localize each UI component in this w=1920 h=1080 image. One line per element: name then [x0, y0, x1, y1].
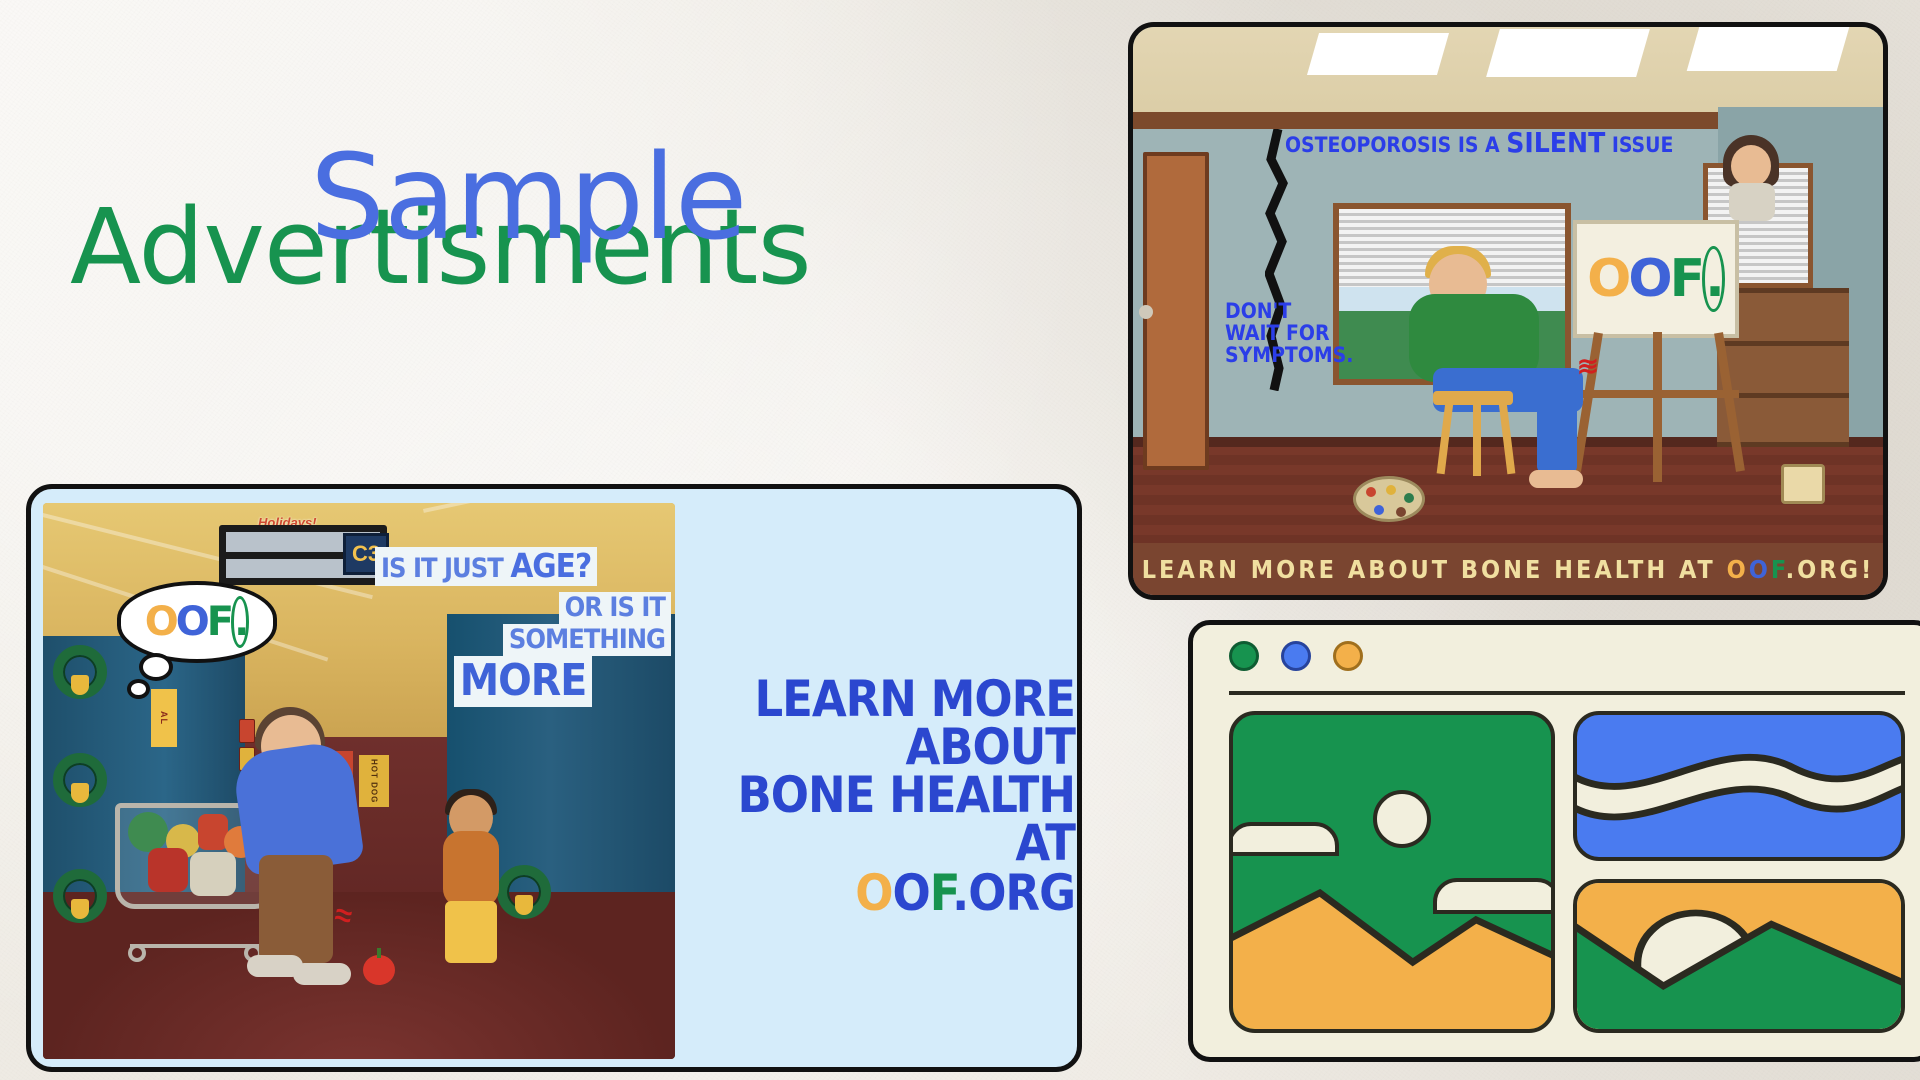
wave-shape — [1577, 715, 1901, 857]
paint-palette — [1353, 476, 1425, 522]
easel-leg — [1714, 332, 1745, 472]
browser-divider — [1229, 691, 1905, 695]
wreath-decor — [53, 869, 107, 923]
shopper-legs — [259, 855, 333, 963]
brand-logo-oof: OOF. — [1587, 249, 1725, 309]
sun-icon — [1373, 790, 1431, 848]
mountain-shape — [1229, 889, 1555, 1033]
shelf-tag: AL — [151, 689, 177, 747]
shelf-product — [239, 719, 255, 743]
artist-ad-headline-left: DON'T WAIT FOR SYMPTOMS. — [1225, 300, 1353, 366]
easel-canvas: OOF. — [1573, 220, 1739, 338]
cta-url[interactable]: OOF.ORG — [699, 869, 1075, 917]
thought-bubble: OOF. — [117, 581, 277, 663]
headline-line1-plain: IS IT JUST — [381, 553, 510, 584]
footer-cta-text[interactable]: LEARN MORE ABOUT BONE HEALTH AT OOF.ORG! — [1142, 555, 1875, 584]
landscape-tile[interactable] — [1229, 711, 1555, 1033]
artist-ad-footer: LEARN MORE ABOUT BONE HEALTH AT OOF.ORG! — [1133, 543, 1883, 595]
headline-left-line1: DON'T — [1225, 300, 1353, 322]
seated-person-foot — [1529, 470, 1583, 488]
easel-crossbar — [1579, 390, 1739, 398]
easel: OOF. — [1565, 220, 1757, 470]
arch-tile[interactable] — [1573, 879, 1905, 1033]
grocery-illustration: Holidays! C3 AL SALE HOT DOG OOF. — [43, 503, 675, 1059]
wreath-decor — [53, 645, 107, 699]
paint-bucket — [1781, 464, 1825, 504]
dropped-apple — [363, 955, 395, 985]
grocery-ad-cta: LEARN MORE ABOUT BONE HEALTH AT OOF.ORG — [699, 675, 1075, 917]
orange-dot-icon[interactable] — [1333, 641, 1363, 671]
ad-browser-mockup[interactable] — [1188, 620, 1920, 1062]
easel-leg — [1653, 332, 1662, 482]
wreath-decor — [53, 753, 107, 807]
seated-person-shin — [1537, 402, 1577, 474]
cta-line1: LEARN MORE ABOUT — [699, 675, 1075, 771]
child-pants — [445, 901, 497, 963]
skylight — [1486, 29, 1650, 77]
arch-shape — [1577, 883, 1901, 1029]
peeking-girl — [1719, 135, 1787, 219]
room-door — [1143, 152, 1209, 470]
headline-line1-bold: AGE? — [510, 546, 591, 585]
browser-title-bar — [1193, 625, 1920, 687]
ad-artist-room[interactable]: OSTEOPOROSIS IS A SILENT ISSUE DON'T WAI… — [1128, 22, 1888, 600]
ad-headline: IS IT JUST AGE? OR IS IT SOMETHING MORE — [375, 547, 671, 707]
skylight — [1307, 33, 1449, 75]
cloud-icon — [1229, 822, 1339, 856]
blue-dot-icon[interactable] — [1281, 641, 1311, 671]
stool-leg — [1473, 402, 1481, 476]
cta-line2: BONE HEALTH AT — [699, 771, 1075, 867]
headline-line2: OR IS IT — [559, 592, 671, 624]
green-dot-icon[interactable] — [1229, 641, 1259, 671]
browser-right-column — [1573, 711, 1905, 1033]
headline-left-line3: SYMPTOMS. — [1225, 344, 1353, 366]
store-floor — [43, 892, 675, 1059]
headline-line4: MORE — [454, 656, 593, 706]
ad-grocery-store[interactable]: Holidays! C3 AL SALE HOT DOG OOF. — [26, 484, 1082, 1072]
brand-logo-oof: OOF. — [145, 599, 250, 645]
page-title-sample: Sample — [310, 138, 746, 256]
pain-indicator-icon: ≋ — [1577, 351, 1596, 382]
browser-content-grid — [1229, 711, 1905, 1033]
page-title-block: Advertisments Sample — [0, 0, 1100, 350]
shelf-tag: HOT DOG — [359, 755, 389, 807]
headline-left-line2: WAIT FOR — [1225, 322, 1353, 344]
door-knob-icon — [1139, 305, 1153, 319]
waves-tile[interactable] — [1573, 711, 1905, 861]
wreath-decor — [497, 865, 551, 919]
shopper-shoe — [293, 963, 351, 985]
child-body — [443, 831, 499, 907]
headline-line3: SOMETHING — [503, 624, 671, 656]
skylight — [1687, 27, 1850, 71]
